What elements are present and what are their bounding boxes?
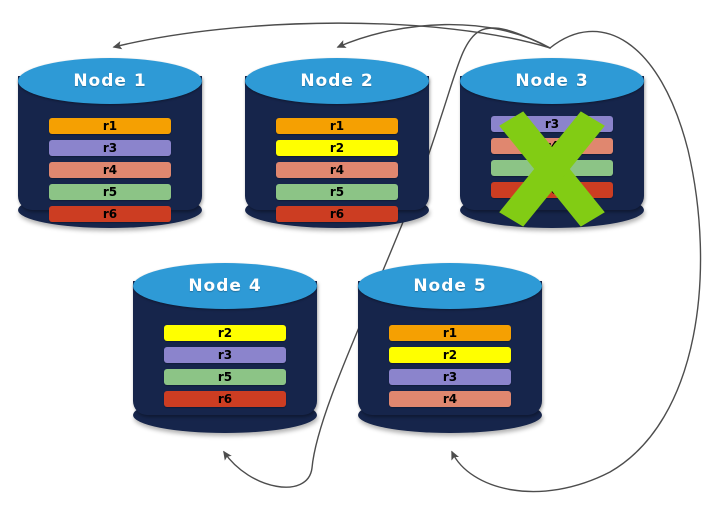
- replica-label: r4: [491, 138, 613, 154]
- replica-r2[interactable]: r2: [389, 347, 511, 363]
- replica-label: r1: [276, 118, 398, 134]
- node-5-label: Node 5: [358, 263, 542, 309]
- replica-r5[interactable]: r5: [49, 184, 171, 200]
- replica-label: r4: [276, 162, 398, 178]
- replica-r1[interactable]: r1: [49, 118, 171, 134]
- replica-label: r5: [276, 184, 398, 200]
- node-4-replica-list: r2r3r5r6: [133, 325, 317, 413]
- replica-label: r5: [164, 369, 286, 385]
- replica-label: r4: [389, 391, 511, 407]
- replica-r2[interactable]: r2: [276, 140, 398, 156]
- replica-label: r1: [389, 325, 511, 341]
- replica-r6[interactable]: r6: [491, 182, 613, 198]
- diagram-canvas: Node 1r1r3r4r5r6Node 2r1r2r4r5r6Node 3r3…: [0, 0, 708, 508]
- replica-r1[interactable]: r1: [389, 325, 511, 341]
- replica-r5[interactable]: r5: [491, 160, 613, 176]
- replica-r6[interactable]: r6: [49, 206, 171, 222]
- node-3-label: Node 3: [460, 58, 644, 104]
- replica-r4[interactable]: r4: [491, 138, 613, 154]
- node-4[interactable]: Node 4r2r3r5r6: [133, 263, 317, 433]
- replica-r4[interactable]: r4: [276, 162, 398, 178]
- node-1-replica-list: r1r3r4r5r6: [18, 118, 202, 228]
- replica-r5[interactable]: r5: [276, 184, 398, 200]
- replica-label: r2: [164, 325, 286, 341]
- replica-label: r6: [164, 391, 286, 407]
- node-5[interactable]: Node 5r1r2r3r4: [358, 263, 542, 433]
- replica-r2[interactable]: r2: [164, 325, 286, 341]
- node-1-label: Node 1: [18, 58, 202, 104]
- replica-label: r1: [49, 118, 171, 134]
- replica-r3[interactable]: r3: [491, 116, 613, 132]
- replica-r1[interactable]: r1: [276, 118, 398, 134]
- replica-label: r6: [491, 182, 613, 198]
- replica-r3[interactable]: r3: [164, 347, 286, 363]
- replica-r6[interactable]: r6: [164, 391, 286, 407]
- node-3[interactable]: Node 3r3r4r5r6: [460, 58, 644, 228]
- node-3-replica-list: r3r4r5r6: [460, 116, 644, 204]
- replica-r3[interactable]: r3: [389, 369, 511, 385]
- node-2-label: Node 2: [245, 58, 429, 104]
- node-4-label: Node 4: [133, 263, 317, 309]
- node-2-replica-list: r1r2r4r5r6: [245, 118, 429, 228]
- replica-label: r3: [164, 347, 286, 363]
- arrow-node3-to-node2: [338, 25, 550, 48]
- replica-r4[interactable]: r4: [389, 391, 511, 407]
- replica-label: r2: [389, 347, 511, 363]
- replica-label: r4: [49, 162, 171, 178]
- replica-r6[interactable]: r6: [276, 206, 398, 222]
- replica-label: r2: [276, 140, 398, 156]
- node-5-replica-list: r1r2r3r4: [358, 325, 542, 413]
- replica-label: r6: [49, 206, 171, 222]
- replica-label: r3: [491, 116, 613, 132]
- replica-label: r6: [276, 206, 398, 222]
- replica-label: r5: [49, 184, 171, 200]
- node-1[interactable]: Node 1r1r3r4r5r6: [18, 58, 202, 228]
- arrow-node3-to-node1: [114, 23, 550, 48]
- replica-r3[interactable]: r3: [49, 140, 171, 156]
- replica-label: r5: [491, 160, 613, 176]
- replica-label: r3: [389, 369, 511, 385]
- replica-r4[interactable]: r4: [49, 162, 171, 178]
- replica-label: r3: [49, 140, 171, 156]
- node-2[interactable]: Node 2r1r2r4r5r6: [245, 58, 429, 228]
- replica-r5[interactable]: r5: [164, 369, 286, 385]
